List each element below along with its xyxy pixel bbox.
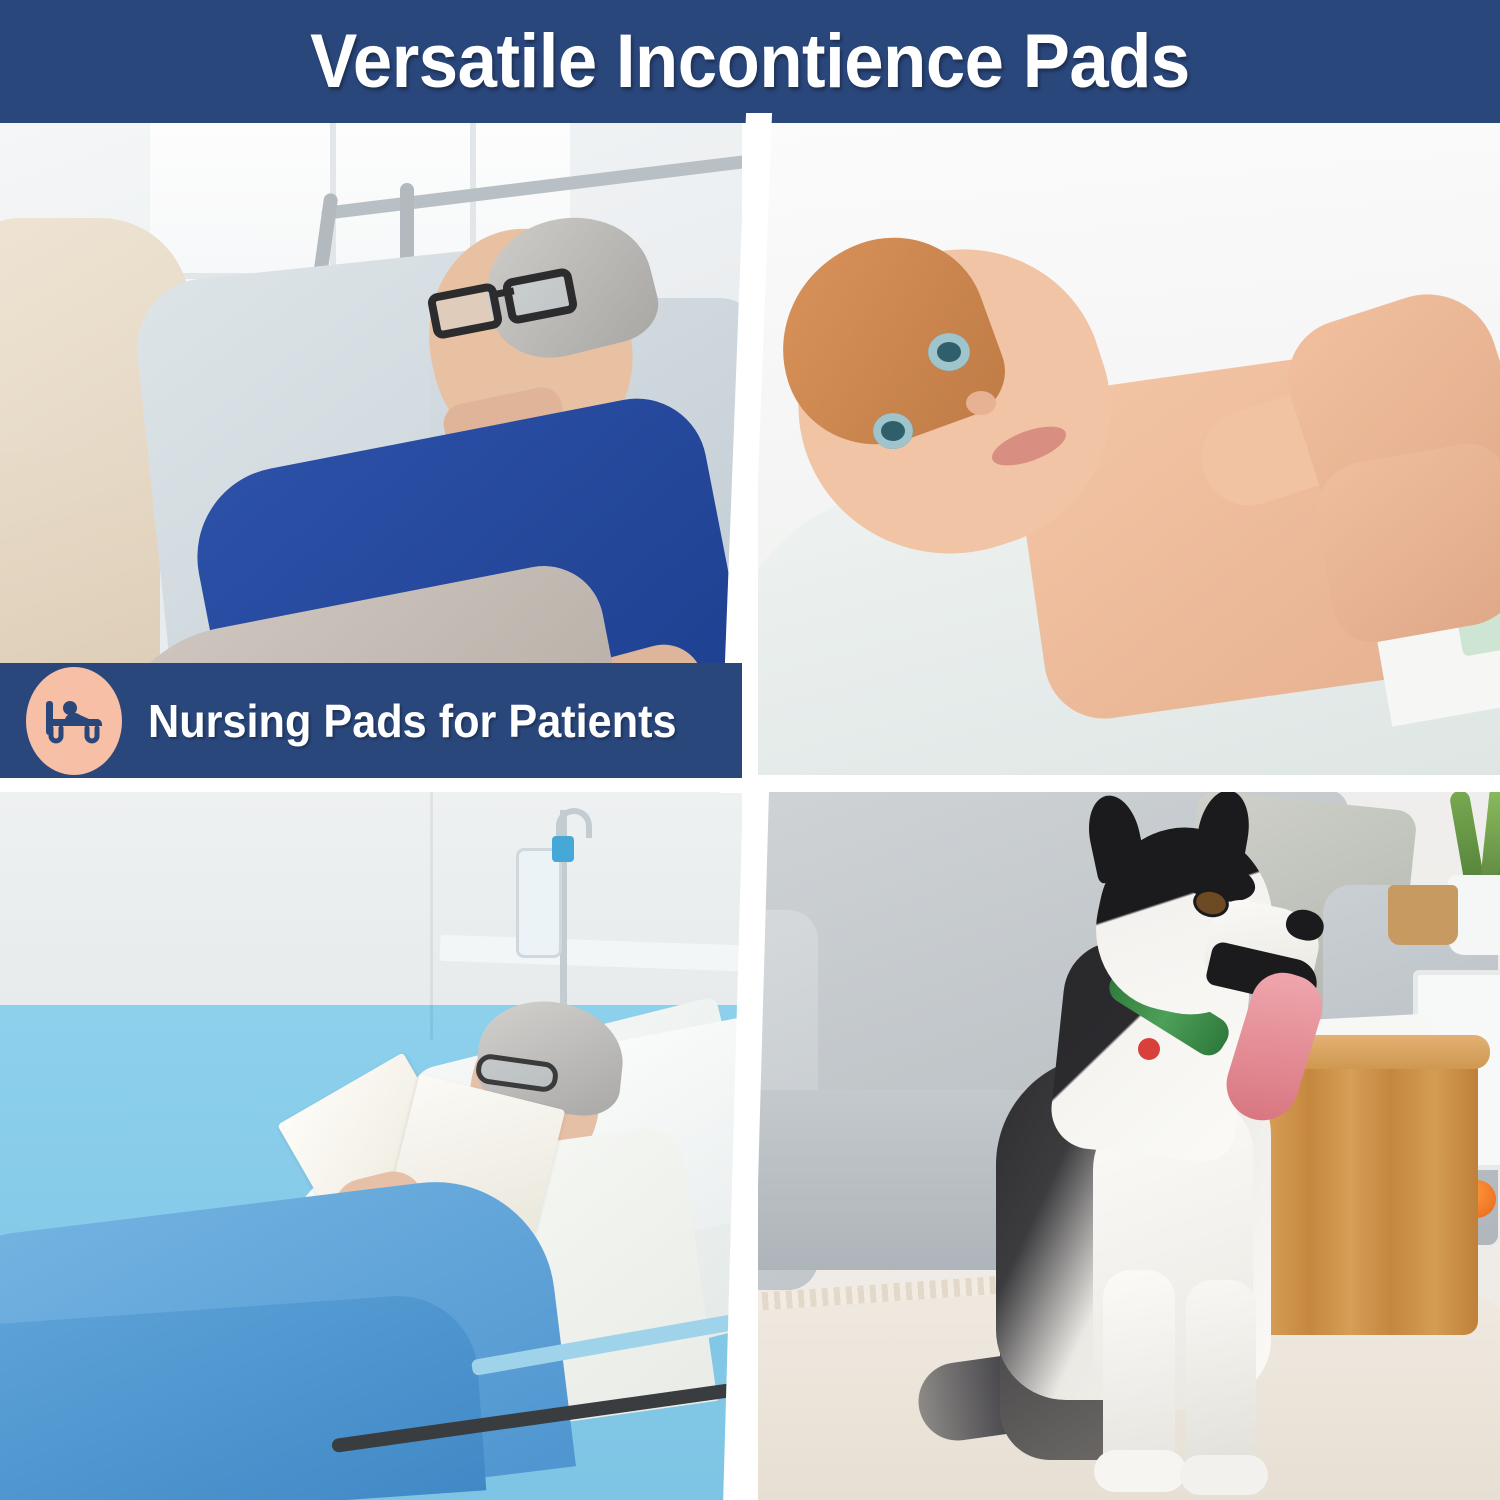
panel-baby[interactable]: Baby Changing Pads — [758, 123, 1500, 778]
photo-dog-training — [758, 790, 1500, 1500]
dog-subject — [908, 800, 1328, 1500]
panel-grid: Nursing Pads for Patients — [0, 123, 1500, 1500]
label-bar-nursing: Nursing Pads for Patients — [0, 663, 742, 778]
hospital-bed-icon — [26, 667, 122, 775]
panel-label-nursing: Nursing Pads for Patients — [148, 694, 677, 748]
infographic-page: Versatile Incontience Pads — [0, 0, 1500, 1500]
panel-dog[interactable]: Dog Training Pads — [758, 790, 1500, 1500]
page-title: Versatile Incontience Pads — [310, 18, 1190, 105]
panel-nursing[interactable]: Nursing Pads for Patients — [0, 123, 742, 778]
panel-adults[interactable]: Incontience Pads for Adults — [0, 790, 742, 1500]
photo-baby-changing — [758, 123, 1500, 778]
title-bar: Versatile Incontience Pads — [0, 0, 1500, 123]
photo-incontinence-adults — [0, 790, 742, 1500]
